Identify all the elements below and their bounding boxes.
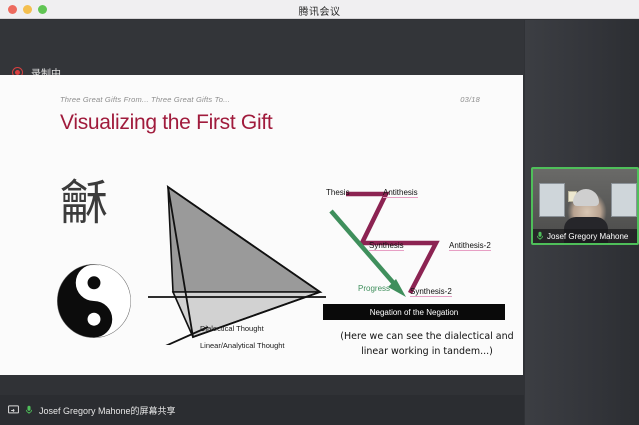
yin-yang-icon xyxy=(56,263,132,339)
slide-page-number: 03/18 xyxy=(460,95,480,104)
participant-head xyxy=(573,189,599,206)
negation-bar: Negation of the Negation xyxy=(323,304,505,320)
screen-share-icon xyxy=(8,405,19,415)
participant-rail: Josef Gregory Mahone xyxy=(525,20,639,425)
meeting-body: 录制中 Three Great Gifts From... Three Grea… xyxy=(0,20,639,425)
node-thesis: Thesis xyxy=(326,188,350,197)
triangle-upper-label: Dialectical Thought xyxy=(200,324,264,333)
participant-tile-josef-gregory-mahone[interactable]: Josef Gregory Mahone xyxy=(531,167,639,245)
window-pane-left xyxy=(539,183,565,217)
microphone-icon-share xyxy=(25,405,33,415)
node-synthesis: Synthesis xyxy=(369,241,404,251)
progress-label: Progress xyxy=(358,284,390,293)
han-character: 龢 xyxy=(60,179,108,227)
screen-share-bar: Josef Gregory Mahone的屏幕共享 xyxy=(0,395,524,425)
tencent-meeting-window: 腾讯会议 录制中 Three Great Gifts From... Three… xyxy=(0,0,639,425)
microphone-icon xyxy=(536,231,544,241)
window-title: 腾讯会议 xyxy=(0,3,639,18)
node-antithesis-2: Antithesis-2 xyxy=(449,241,491,251)
dialectical-triangle xyxy=(148,175,338,345)
window-titlebar: 腾讯会议 xyxy=(0,0,639,19)
slide-caption: (Here we can see the dialectical and lin… xyxy=(337,329,517,359)
slide-header: Three Great Gifts From... Three Great Gi… xyxy=(60,95,480,104)
participant-name: Josef Gregory Mahone xyxy=(547,232,628,241)
screen-share-text: Josef Gregory Mahone的屏幕共享 xyxy=(39,404,176,417)
triangle-lower-label: Linear/Analytical Thought xyxy=(200,341,285,350)
shared-screen-slide[interactable]: Three Great Gifts From... Three Great Gi… xyxy=(0,75,523,375)
slide-header-left: Three Great Gifts From... Three Great Gi… xyxy=(60,95,230,104)
node-antithesis: Antithesis xyxy=(383,188,418,198)
participant-label: Josef Gregory Mahone xyxy=(533,229,637,243)
slide-title: Visualizing the First Gift xyxy=(60,111,272,135)
meeting-topbar xyxy=(0,20,524,75)
node-synthesis-2: Synthesis-2 xyxy=(410,287,452,297)
window-pane-right xyxy=(611,183,637,217)
